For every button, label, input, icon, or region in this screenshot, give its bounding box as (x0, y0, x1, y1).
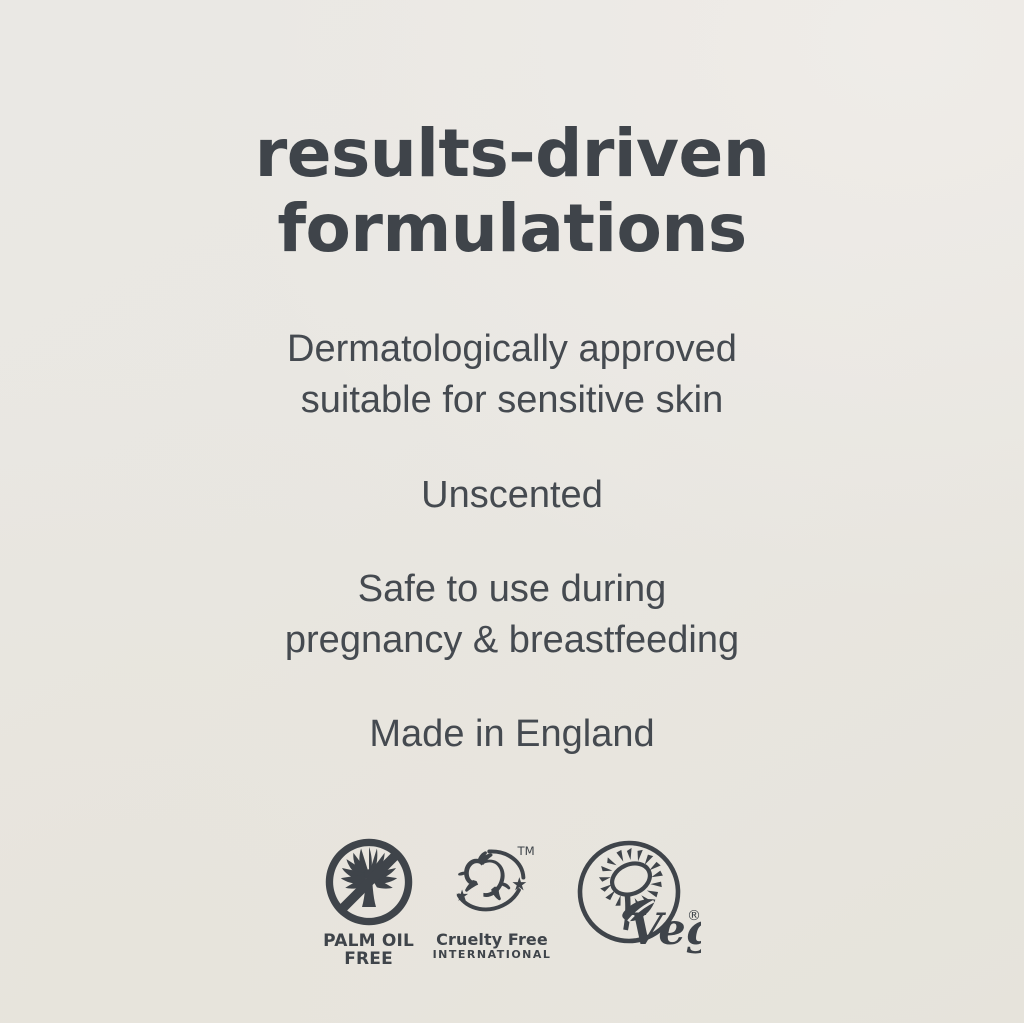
registered-symbol: ® (687, 908, 701, 924)
claim-line-1: Made in England (0, 709, 1024, 760)
leaping-rabbit-icon: TM (440, 836, 544, 928)
claim-line-1: Safe to use during (0, 564, 1024, 615)
badge-caption-palm-oil-free: PALM OIL FREE (323, 932, 414, 969)
certification-badge-row: PALM OIL FREE (323, 836, 702, 969)
trademark-symbol: TM (516, 844, 534, 858)
claim-pregnancy-safe: Safe to use during pregnancy & breastfee… (0, 564, 1024, 665)
claim-unscented: Unscented (0, 470, 1024, 521)
claim-made-in-england: Made in England (0, 709, 1024, 760)
badge-caption-line-1: PALM OIL (323, 931, 414, 951)
page-title-line-1: results-driven (255, 116, 770, 191)
badge-caption-line-2: INTERNATIONAL (433, 948, 552, 962)
badge-palm-oil-free: PALM OIL FREE (323, 836, 415, 969)
vegan-sunflower-icon: Vegan ® (569, 836, 701, 962)
badge-caption-line-2: FREE (344, 949, 393, 969)
claim-line-2: suitable for sensitive skin (0, 375, 1024, 426)
page-title-line-2: formulations (255, 191, 770, 266)
product-claims-panel: results-driven formulations Dermatologic… (0, 0, 1024, 1023)
page-title: results-driven formulations (255, 0, 770, 266)
claim-line-2: pregnancy & breastfeeding (0, 615, 1024, 666)
claim-line-1: Dermatologically approved (0, 324, 1024, 375)
badge-caption-cruelty-free: Cruelty Free INTERNATIONAL (433, 932, 552, 963)
palm-oil-free-icon (323, 836, 415, 928)
claims-list: Dermatologically approved suitable for s… (0, 324, 1024, 759)
claim-dermatologically-approved: Dermatologically approved suitable for s… (0, 324, 1024, 425)
badge-vegan: Vegan ® Vegan ® (569, 836, 701, 966)
claim-line-1: Unscented (0, 470, 1024, 521)
badge-cruelty-free-international: TM Cruelty Free INTERNATIONAL TM (433, 836, 552, 963)
badge-caption-line-1: Cruelty Free (433, 932, 552, 949)
